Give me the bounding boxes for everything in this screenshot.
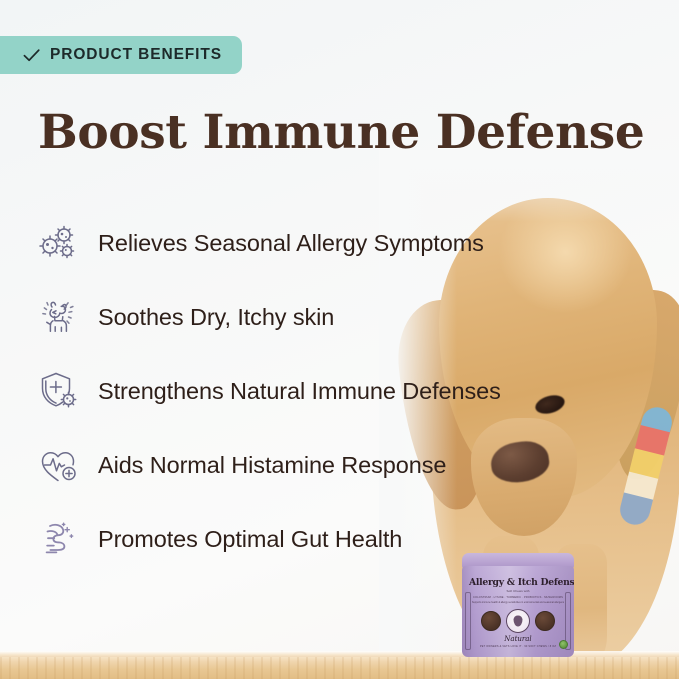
benefit-item-itchy-skin: Soothes Dry, Itchy skin xyxy=(34,280,554,354)
jar-subtitle: Soft Chews with xyxy=(469,590,567,594)
benefit-label: Aids Normal Histamine Response xyxy=(98,451,446,480)
jar-label: Allergy & Itch Defense Soft Chews with C… xyxy=(462,566,574,657)
jar-description: Supports immune health & allergy sensiti… xyxy=(469,601,567,604)
jar-side-panel-left xyxy=(465,592,471,650)
benefit-label: Promotes Optimal Gut Health xyxy=(98,525,402,554)
badge-label: PRODUCT BENEFITS xyxy=(50,46,222,64)
shield-plus-icon xyxy=(34,367,82,415)
infographic-canvas: PRODUCT BENEFITS Boost Immune Defense xyxy=(0,0,679,679)
intestine-icon xyxy=(34,515,82,563)
jar-seal-row xyxy=(469,609,567,633)
wooden-floor xyxy=(0,657,679,679)
benefit-item-histamine-response: Aids Normal Histamine Response xyxy=(34,428,554,502)
benefit-label: Strengthens Natural Immune Defenses xyxy=(98,377,501,406)
check-icon xyxy=(22,46,41,65)
benefit-item-allergy-symptoms: Relieves Seasonal Allergy Symptoms xyxy=(34,206,554,280)
benefit-item-immune-defenses: Strengthens Natural Immune Defenses xyxy=(34,354,554,428)
product-jar: Allergy & Itch Defense Soft Chews with C… xyxy=(462,553,574,657)
jar-ingredients: COLOSTRUM · LYSINE · TURMERIC · PROBIOTI… xyxy=(469,596,567,599)
jar-product-title: Allergy & Itch Defense xyxy=(469,578,567,587)
germs-icon xyxy=(34,219,82,267)
chew-seal-right xyxy=(535,611,555,631)
dog-seal xyxy=(506,609,530,633)
jar-natural-script: Natural xyxy=(469,635,567,643)
scratching-dog-icon xyxy=(34,293,82,341)
benefit-label: Relieves Seasonal Allergy Symptoms xyxy=(98,229,484,258)
jar-footer-text: PET OWNERS & VETS LOVE IT · 90 SOFT CHEW… xyxy=(469,645,567,648)
product-benefits-badge: PRODUCT BENEFITS xyxy=(0,36,242,74)
benefits-list: Relieves Seasonal Allergy Symptoms xyxy=(34,206,554,576)
heart-pulse-icon xyxy=(34,441,82,489)
chew-seal-left xyxy=(481,611,501,631)
page-title: Boost Immune Defense xyxy=(38,108,658,158)
benefit-label: Soothes Dry, Itchy skin xyxy=(98,303,334,332)
organic-seal-icon xyxy=(559,640,568,649)
